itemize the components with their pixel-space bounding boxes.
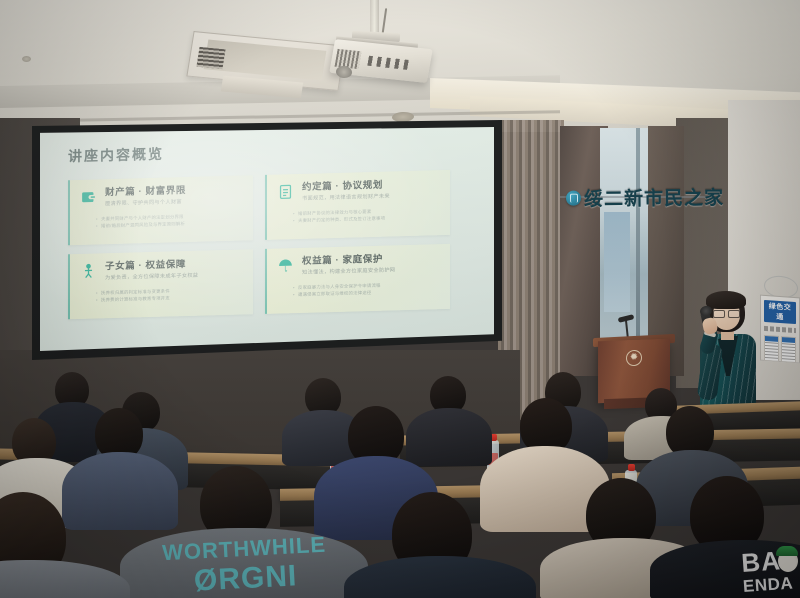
poster-subtitle-bar — [764, 326, 796, 333]
card-heading: 权益篇 · 家庭保护 — [302, 253, 395, 267]
circular-emblem-icon — [566, 190, 581, 205]
shoulders — [406, 408, 492, 466]
ac-grille-icon — [196, 47, 225, 69]
slide-card: 约定篇 · 协议规划 书面规范，用法律语言规划财产未来 婚前财产协议的法律效力与… — [265, 170, 450, 240]
projection-screen: 讲座内容概览 财产篇 · 财富界限 厘清界限、守护共同与个人财富 — [40, 127, 494, 351]
card-bullets: 反家庭暴力法与人身安全保护令申请流程 遭遇侵害立即取证与维权的法律途径 — [293, 280, 442, 299]
card-bullets: 夫妻共同财产与个人财产的法定划分界限 婚前/婚后财产混同风险及与界定原则解析 — [96, 212, 245, 231]
shoulders — [0, 560, 130, 598]
window-mullion — [636, 128, 640, 364]
shoulders — [62, 452, 178, 530]
slide-card: 财产篇 · 财富界限 厘清界限、守护共同与个人财富 夫妻共同财产与个人财产的法定… — [68, 175, 253, 245]
card-subtitle: 厘清界限、守护共同与个人财富 — [105, 199, 186, 208]
slide-card: 权益篇 · 家庭保护 知法懂法，构建全方位家庭安全防护网 反家庭暴力法与人身安全… — [265, 244, 450, 314]
slide-content: 讲座内容概览 财产篇 · 财富界限 厘清界限、守护共同与个人财富 — [40, 127, 494, 351]
jacket-text-line2: ENDA — [742, 574, 800, 595]
shoulders — [344, 556, 536, 598]
card-heading: 财产篇 · 财富界限 — [105, 185, 186, 199]
projector-mount-pole — [370, 0, 379, 34]
poster-panel — [764, 335, 779, 362]
card-bullets: 婚前财产协议的法律效力与核心要素 夫妻财产约定的种类、形式及签订注意事项 — [293, 206, 442, 225]
card-subtitle: 知法懂法，构建全方位家庭安全防护网 — [302, 268, 395, 277]
photo-scene: 绥二新市民之家 绿色交通 讲座内容概览 — [0, 0, 800, 598]
glasses-icon — [713, 310, 740, 316]
ceiling-downlight — [22, 56, 31, 62]
slide-card-grid: 财产篇 · 财富界限 厘清界限、守护共同与个人财富 夫妻共同财产与个人财产的法定… — [68, 170, 450, 319]
umbrella-icon — [277, 257, 294, 274]
poster-title: 绿色交通 — [764, 300, 796, 324]
speaker-hair-fringe — [706, 291, 746, 309]
card-subtitle: 为爱负责，全方位保障未成年子女权益 — [105, 273, 198, 282]
card-heading: 约定篇 · 协议规划 — [302, 180, 390, 194]
wall-sign: 绥二新市民之家 — [566, 183, 700, 210]
poster-panel — [781, 336, 796, 363]
card-heading: 子女篇 · 权益保障 — [105, 259, 198, 273]
window-view — [604, 212, 630, 312]
wallet-icon — [80, 188, 97, 205]
slide-card: 子女篇 · 权益保障 为爱负责，全方位保障未成年子女权益 抚养权归属的判定标准与… — [68, 249, 253, 319]
green-cap-icon — [776, 546, 798, 556]
hoodie-graphic: WORTHWHILE ØRGNI — [149, 533, 342, 598]
child-icon — [80, 262, 97, 279]
wall-poster: 绿色交通 — [760, 295, 800, 364]
card-subtitle: 书面规范，用法律语言规划财产未来 — [302, 194, 390, 203]
slide-title: 讲座内容概览 — [68, 135, 470, 166]
poster-panel-grid — [764, 335, 796, 363]
wall-sign-text: 绥二新市民之家 — [584, 183, 724, 211]
document-icon — [277, 183, 294, 200]
card-bullets: 抚养权归属的判定标准与变更条件 抚养费的计算标准与教育专项开支 — [96, 286, 245, 305]
